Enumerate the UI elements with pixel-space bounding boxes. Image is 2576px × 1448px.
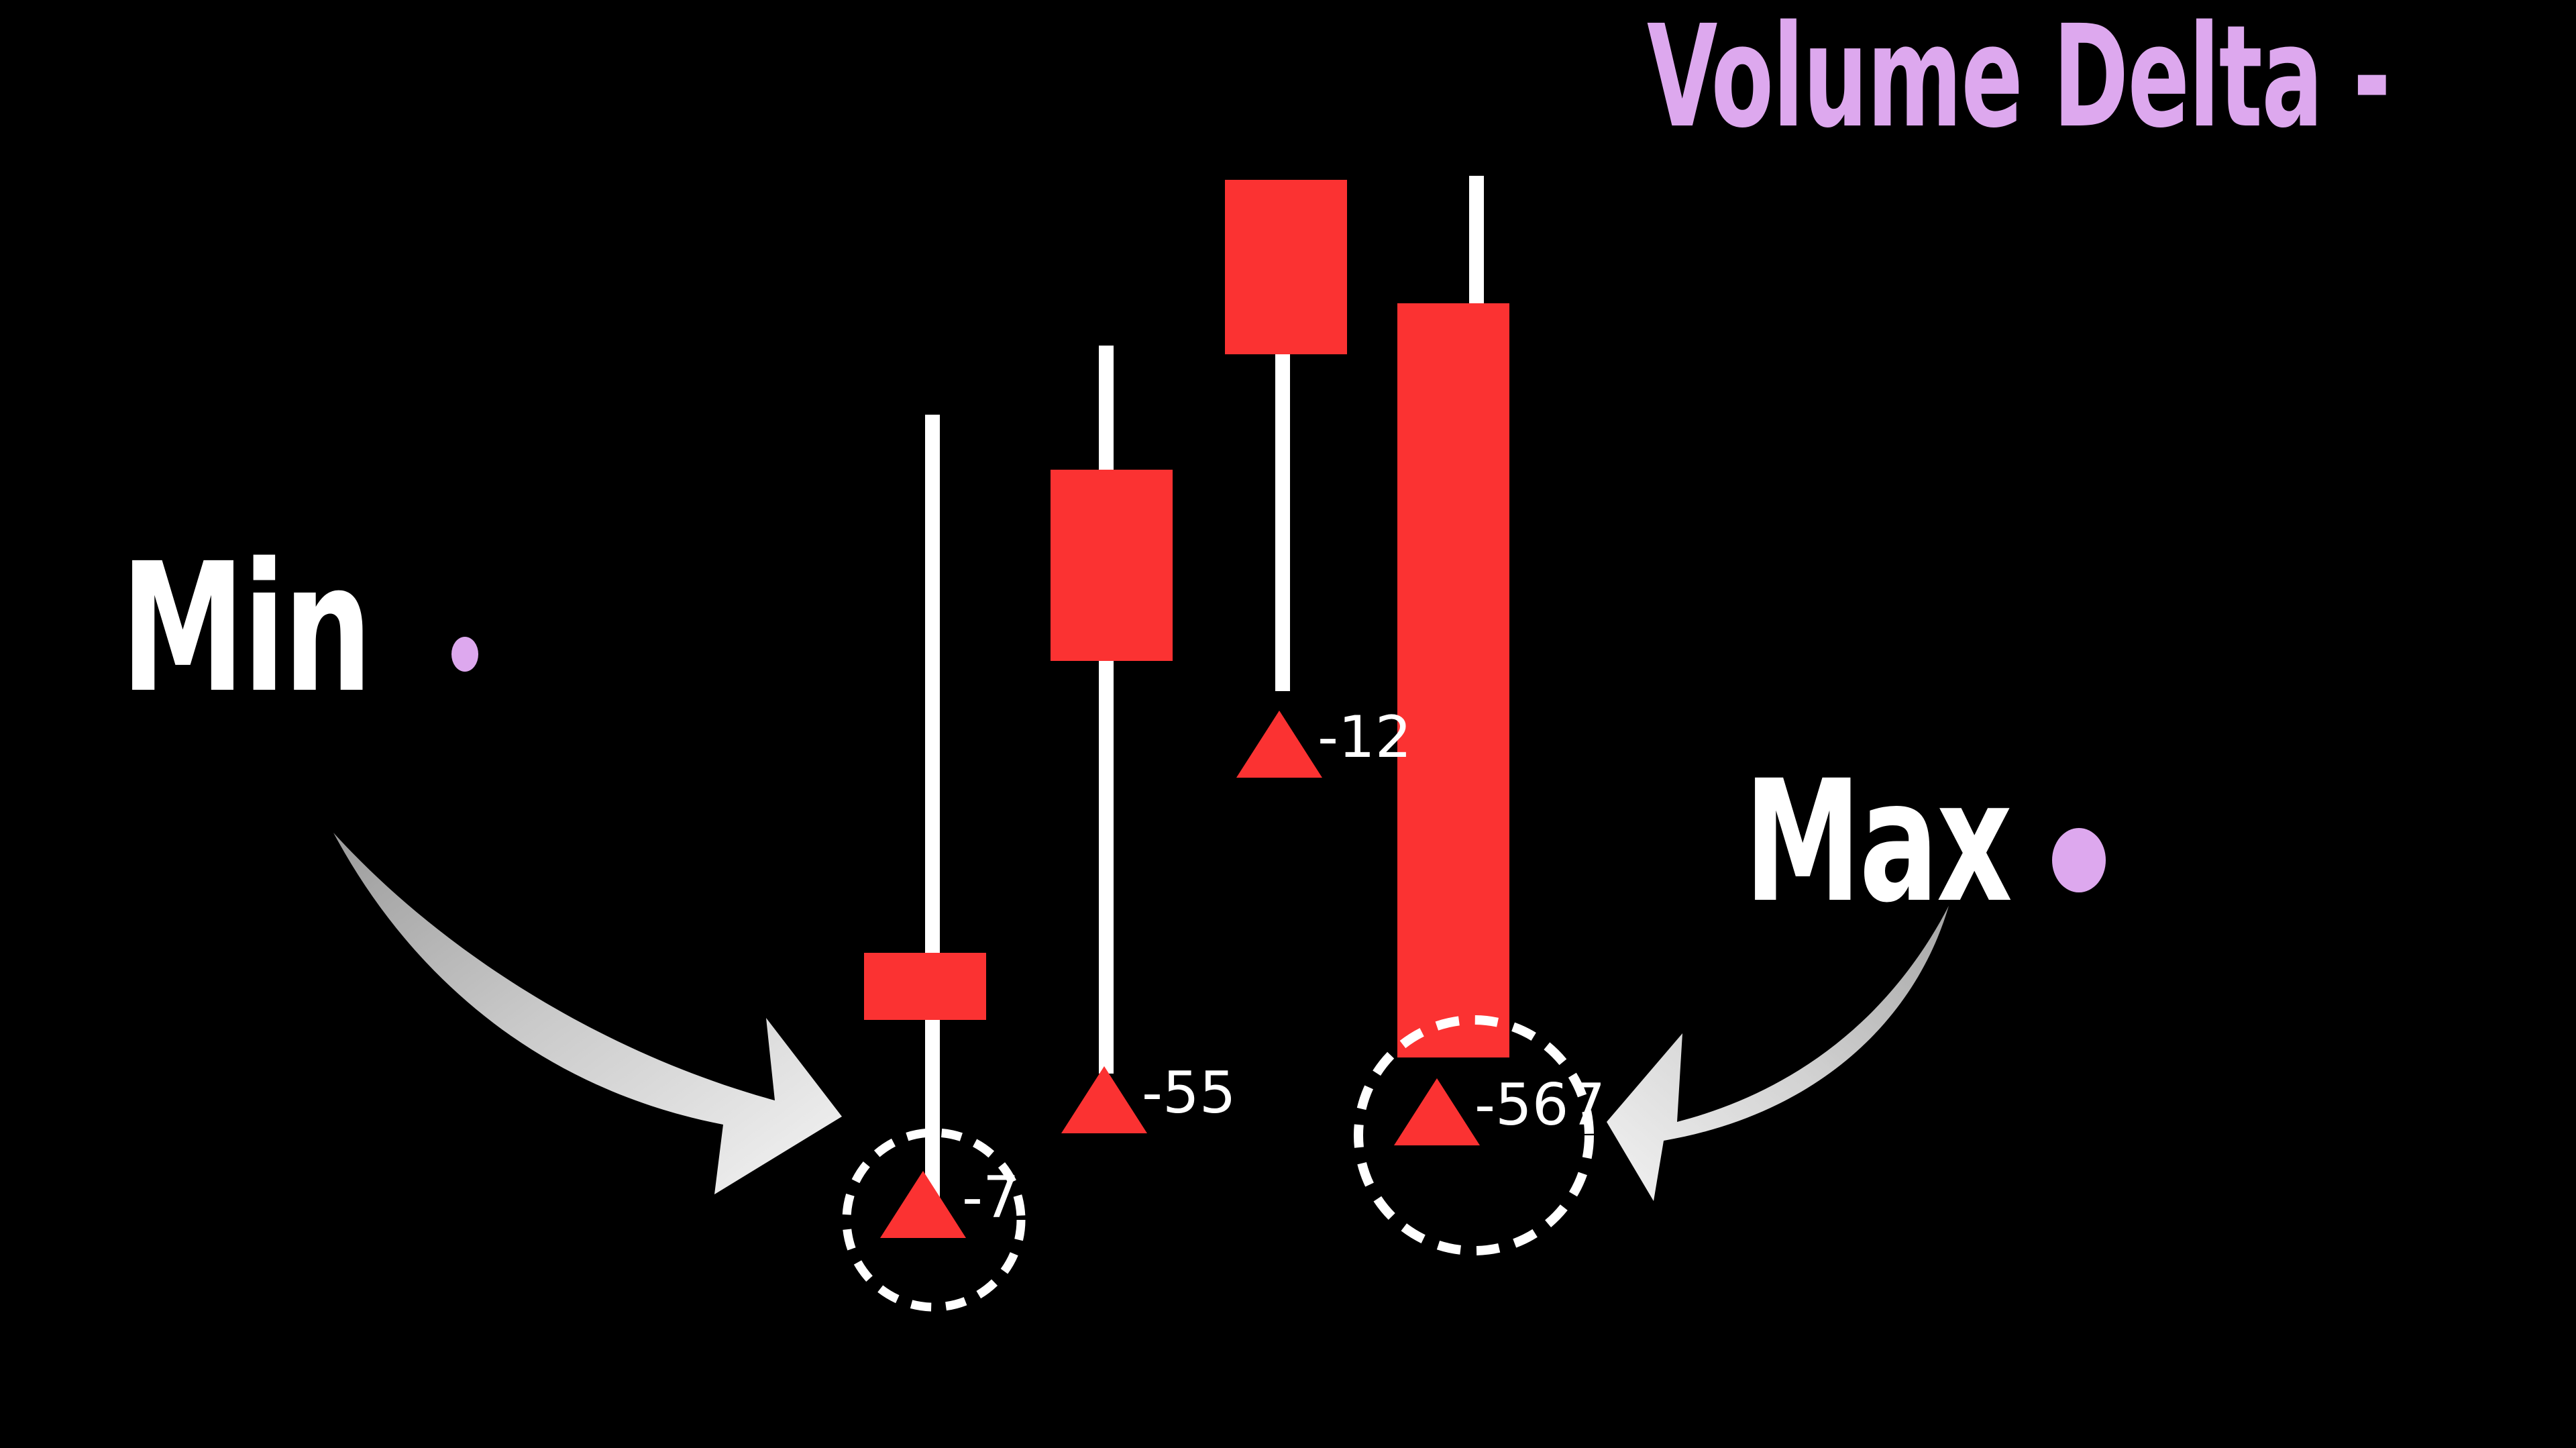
candlestick-chart-svg xyxy=(0,0,2576,1448)
candle-4[interactable] xyxy=(1397,176,1509,1057)
candle-2-wick xyxy=(1099,346,1114,1074)
min-dot-icon xyxy=(451,637,478,672)
candle-4-body xyxy=(1397,303,1509,1057)
candle-1-body xyxy=(864,953,986,1020)
candle-1-wick xyxy=(925,415,940,1208)
candle-3-body xyxy=(1225,180,1347,354)
candle-2-body xyxy=(1051,470,1173,661)
max-dot-icon xyxy=(2052,828,2106,892)
chart-canvas: Volume Delta - Min Max -7 -55 -12 -567 xyxy=(0,0,2576,1448)
